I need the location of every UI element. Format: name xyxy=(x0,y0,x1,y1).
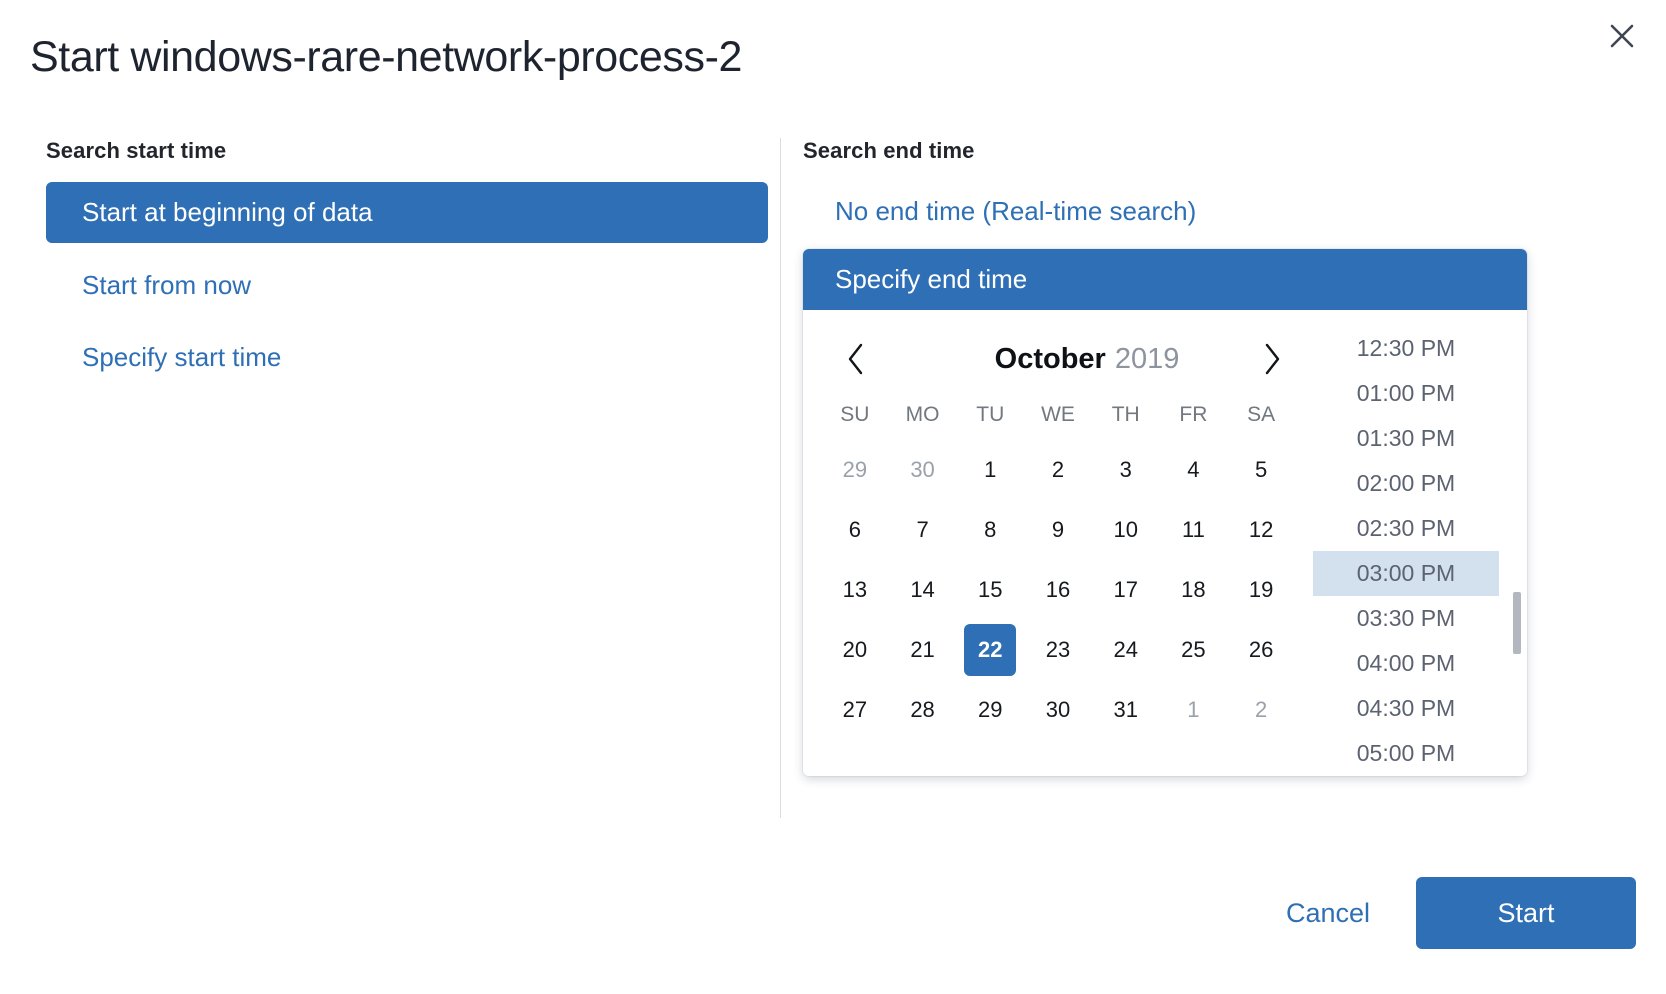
cancel-button[interactable]: Cancel xyxy=(1258,882,1398,945)
time-option[interactable]: 04:30 PM xyxy=(1313,686,1499,731)
calendar-year-label: 2019 xyxy=(1115,343,1180,375)
calendar-weekday-tu: TU xyxy=(956,390,1024,440)
time-option[interactable]: 05:00 PM xyxy=(1313,731,1499,776)
calendar-day-cell[interactable]: 10 xyxy=(1092,500,1160,560)
calendar-day-label: 6 xyxy=(829,504,881,556)
search-start-time-column: Search start time Start at beginning of … xyxy=(0,138,780,818)
calendar-day-label: 29 xyxy=(829,444,881,496)
calendar-month-year: October2019 xyxy=(879,343,1295,376)
calendar-grid: SUMOTUWETHFRSA29301234567891011121314151… xyxy=(821,390,1295,740)
calendar-day-cell[interactable]: 3 xyxy=(1092,440,1160,500)
search-end-time-heading: Search end time xyxy=(803,138,1666,164)
chevron-right-icon[interactable] xyxy=(1249,336,1295,382)
time-option[interactable]: 01:00 PM xyxy=(1313,371,1499,416)
calendar-day-label: 4 xyxy=(1167,444,1219,496)
calendar-day-label: 9 xyxy=(1032,504,1084,556)
calendar-day-label: 12 xyxy=(1235,504,1287,556)
calendar-day-cell[interactable]: 26 xyxy=(1227,620,1295,680)
end-time-picker-card: Specify end time O xyxy=(803,249,1527,776)
calendar-day-label: 20 xyxy=(829,624,881,676)
calendar-day-label: 18 xyxy=(1167,564,1219,616)
search-end-time-column: Search end time No end time (Real-time s… xyxy=(780,138,1666,818)
time-option[interactable]: 02:00 PM xyxy=(1313,461,1499,506)
calendar: October2019 SUMOTUWETHFRSA29301234567891… xyxy=(803,310,1313,776)
calendar-day-label: 8 xyxy=(964,504,1016,556)
start-option-specify-start-time[interactable]: Specify start time xyxy=(46,327,768,388)
calendar-day-label: 15 xyxy=(964,564,1016,616)
time-option[interactable]: 03:00 PM xyxy=(1313,551,1499,596)
calendar-day-label: 2 xyxy=(1032,444,1084,496)
calendar-day-cell[interactable]: 15 xyxy=(956,560,1024,620)
calendar-day-cell[interactable]: 6 xyxy=(821,500,889,560)
calendar-weekday-th: TH xyxy=(1092,390,1160,440)
search-start-time-heading: Search start time xyxy=(46,138,768,164)
calendar-day-label: 19 xyxy=(1235,564,1287,616)
calendar-day-label: 22 xyxy=(964,624,1016,676)
end-time-options: No end time (Real-time search) Specify e… xyxy=(803,182,1527,776)
calendar-day-cell[interactable]: 28 xyxy=(889,680,957,740)
time-list-scrollbar[interactable] xyxy=(1513,326,1521,770)
calendar-day-label: 10 xyxy=(1100,504,1152,556)
calendar-day-label: 14 xyxy=(897,564,949,616)
calendar-day-label: 30 xyxy=(897,444,949,496)
start-search-dialog: Start windows-rare-network-process-2 Sea… xyxy=(0,0,1666,994)
picker-body: October2019 SUMOTUWETHFRSA29301234567891… xyxy=(803,310,1527,776)
calendar-day-label: 3 xyxy=(1100,444,1152,496)
calendar-day-cell[interactable]: 21 xyxy=(889,620,957,680)
page-title: Start windows-rare-network-process-2 xyxy=(30,33,742,82)
calendar-day-label: 17 xyxy=(1100,564,1152,616)
calendar-day-cell[interactable]: 31 xyxy=(1092,680,1160,740)
calendar-day-cell[interactable]: 11 xyxy=(1160,500,1228,560)
calendar-day-cell[interactable]: 4 xyxy=(1160,440,1228,500)
time-list-container: 12:30 PM01:00 PM01:30 PM02:00 PM02:30 PM… xyxy=(1313,310,1527,776)
end-option-specify-end-time[interactable]: Specify end time xyxy=(803,249,1527,310)
calendar-day-label: 27 xyxy=(829,684,881,736)
calendar-day-label: 5 xyxy=(1235,444,1287,496)
close-icon[interactable] xyxy=(1600,14,1644,58)
calendar-day-cell[interactable]: 22 xyxy=(956,620,1024,680)
calendar-day-label: 31 xyxy=(1100,684,1152,736)
calendar-day-cell[interactable]: 20 xyxy=(821,620,889,680)
time-range-columns: Search start time Start at beginning of … xyxy=(0,138,1666,818)
calendar-day-cell[interactable]: 30 xyxy=(889,440,957,500)
calendar-day-cell[interactable]: 14 xyxy=(889,560,957,620)
start-option-from-now[interactable]: Start from now xyxy=(46,255,768,316)
calendar-day-label: 16 xyxy=(1032,564,1084,616)
calendar-weekday-fr: FR xyxy=(1160,390,1228,440)
calendar-day-label: 2 xyxy=(1235,684,1287,736)
calendar-day-cell[interactable]: 25 xyxy=(1160,620,1228,680)
calendar-day-cell[interactable]: 8 xyxy=(956,500,1024,560)
calendar-weekday-mo: MO xyxy=(889,390,957,440)
end-option-no-end-time[interactable]: No end time (Real-time search) xyxy=(803,182,1527,241)
calendar-weekday-su: SU xyxy=(821,390,889,440)
calendar-day-label: 26 xyxy=(1235,624,1287,676)
calendar-day-label: 21 xyxy=(897,624,949,676)
start-button[interactable]: Start xyxy=(1416,877,1636,949)
calendar-day-cell[interactable]: 2 xyxy=(1227,680,1295,740)
calendar-day-label: 7 xyxy=(897,504,949,556)
calendar-day-label: 29 xyxy=(964,684,1016,736)
calendar-day-cell[interactable]: 13 xyxy=(821,560,889,620)
calendar-day-cell[interactable]: 18 xyxy=(1160,560,1228,620)
calendar-day-cell[interactable]: 29 xyxy=(821,440,889,500)
dialog-footer: Cancel Start xyxy=(1258,877,1636,949)
calendar-weekday-sa: SA xyxy=(1227,390,1295,440)
time-option[interactable]: 03:30 PM xyxy=(1313,596,1499,641)
time-option[interactable]: 02:30 PM xyxy=(1313,506,1499,551)
time-option[interactable]: 12:30 PM xyxy=(1313,326,1499,371)
calendar-day-cell[interactable]: 19 xyxy=(1227,560,1295,620)
time-list[interactable]: 12:30 PM01:00 PM01:30 PM02:00 PM02:30 PM… xyxy=(1313,326,1527,776)
calendar-day-label: 1 xyxy=(964,444,1016,496)
chevron-left-icon[interactable] xyxy=(833,336,879,382)
calendar-day-cell[interactable]: 16 xyxy=(1024,560,1092,620)
calendar-day-cell[interactable]: 12 xyxy=(1227,500,1295,560)
calendar-day-cell[interactable]: 1 xyxy=(1160,680,1228,740)
start-option-beginning-of-data[interactable]: Start at beginning of data xyxy=(46,182,768,243)
calendar-day-cell[interactable]: 29 xyxy=(956,680,1024,740)
calendar-day-cell[interactable]: 27 xyxy=(821,680,889,740)
calendar-day-cell[interactable]: 30 xyxy=(1024,680,1092,740)
calendar-day-label: 24 xyxy=(1100,624,1152,676)
calendar-day-cell[interactable]: 5 xyxy=(1227,440,1295,500)
calendar-day-cell[interactable]: 24 xyxy=(1092,620,1160,680)
calendar-day-cell[interactable]: 17 xyxy=(1092,560,1160,620)
calendar-day-cell[interactable]: 7 xyxy=(889,500,957,560)
calendar-day-label: 11 xyxy=(1167,504,1219,556)
calendar-day-cell[interactable]: 2 xyxy=(1024,440,1092,500)
calendar-weekday-we: WE xyxy=(1024,390,1092,440)
calendar-day-label: 30 xyxy=(1032,684,1084,736)
calendar-day-label: 13 xyxy=(829,564,881,616)
calendar-day-cell[interactable]: 9 xyxy=(1024,500,1092,560)
calendar-day-cell[interactable]: 1 xyxy=(956,440,1024,500)
time-option[interactable]: 04:00 PM xyxy=(1313,641,1499,686)
calendar-day-cell[interactable]: 23 xyxy=(1024,620,1092,680)
time-option[interactable]: 01:30 PM xyxy=(1313,416,1499,461)
calendar-day-label: 23 xyxy=(1032,624,1084,676)
calendar-day-label: 1 xyxy=(1167,684,1219,736)
calendar-day-label: 25 xyxy=(1167,624,1219,676)
calendar-day-label: 28 xyxy=(897,684,949,736)
calendar-nav: October2019 xyxy=(821,328,1295,390)
time-list-scrollbar-thumb[interactable] xyxy=(1513,592,1521,654)
calendar-month-label: October xyxy=(995,343,1106,375)
